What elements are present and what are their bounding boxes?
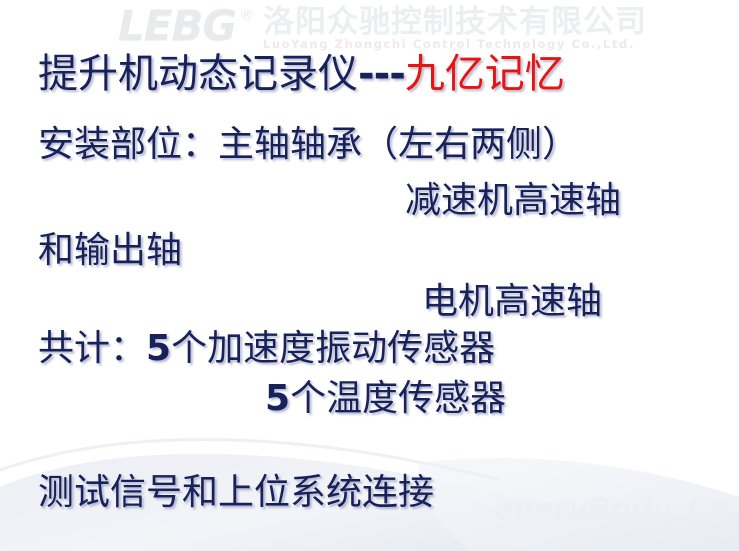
body-line-signal-connection: 测试信号和上位系统连接 bbox=[38, 472, 434, 514]
body-line-vibration-sensor-total: 共计：5个加速度振动传感器 bbox=[38, 328, 495, 370]
vibration-sensor-label: 个加速度振动传感器 bbox=[171, 328, 495, 369]
slide-title-highlight: 九亿记忆 bbox=[405, 51, 565, 97]
body-line-output-shaft: 和输出轴 bbox=[38, 230, 182, 272]
presentation-slide: LEBG ® 洛阳众驰控制技术有限公司 LuoYang Zhongchi Con… bbox=[0, 0, 739, 551]
temperature-sensor-count: 5 bbox=[265, 378, 290, 419]
total-label: 共计： bbox=[38, 328, 146, 369]
slide-text-content: 提升机动态记录仪---九亿记忆 安装部位：主轴轴承（左右两侧） 减速机高速轴 和… bbox=[0, 0, 739, 551]
slide-title-dash: --- bbox=[358, 51, 405, 97]
vibration-sensor-count: 5 bbox=[146, 328, 171, 369]
temperature-sensor-label: 个温度传感器 bbox=[290, 378, 506, 419]
body-line-install-location: 安装部位：主轴轴承（左右两侧） bbox=[38, 124, 578, 166]
body-line-motor-high-speed-shaft: 电机高速轴 bbox=[422, 281, 602, 323]
slide-title: 提升机动态记录仪---九亿记忆 bbox=[38, 51, 565, 97]
slide-title-main: 提升机动态记录仪 bbox=[38, 51, 358, 97]
body-line-reducer-high-speed-shaft: 减速机高速轴 bbox=[405, 180, 621, 222]
body-line-temperature-sensor-total: 5个温度传感器 bbox=[265, 378, 506, 420]
